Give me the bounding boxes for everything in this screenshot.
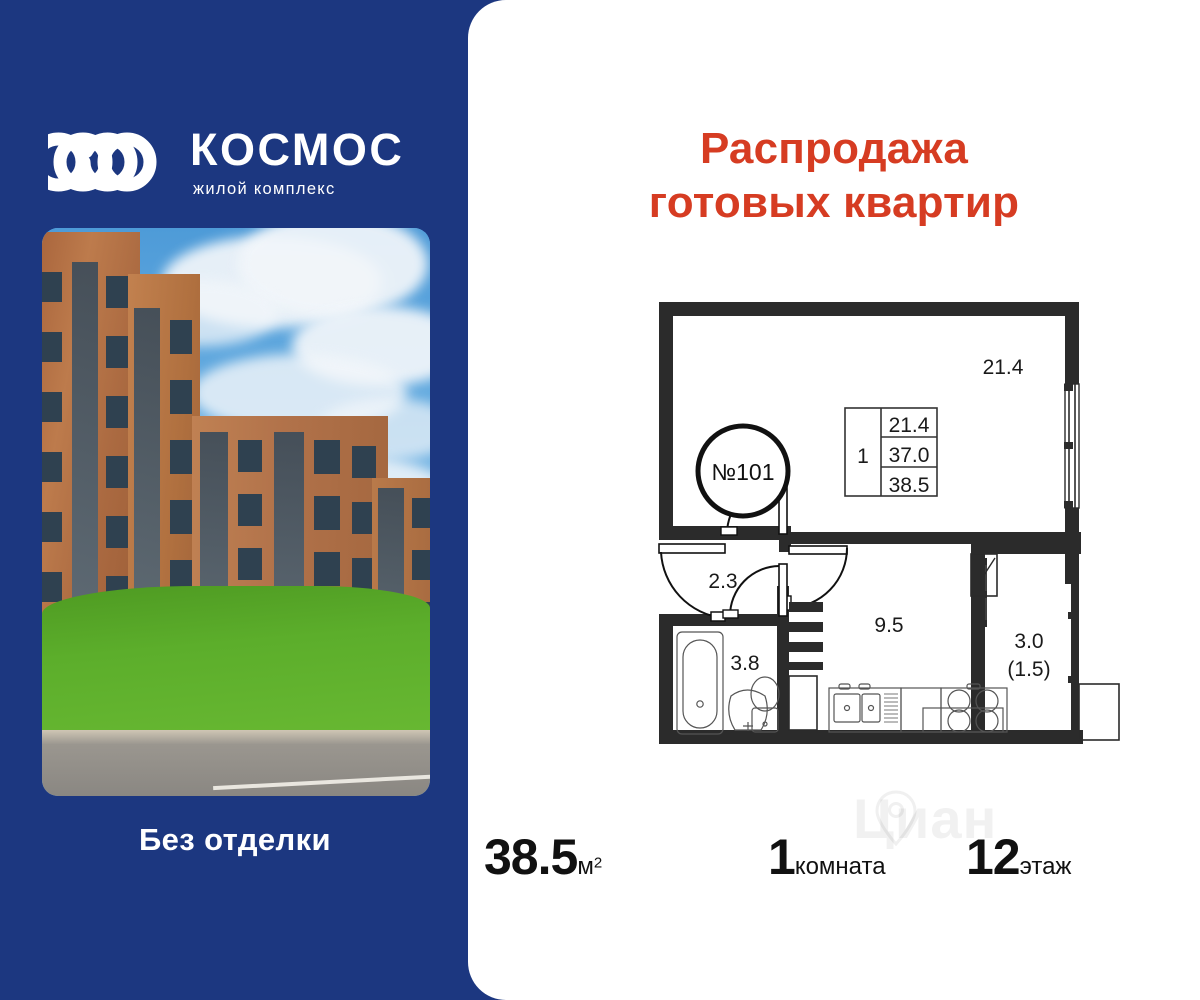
room-label-balcony-coef: (1.5) [1007, 658, 1050, 681]
area-table-without-balcony: 37.0 [889, 444, 930, 467]
window [1064, 384, 1079, 508]
area-table-total: 38.5 [889, 474, 930, 497]
area-table-living: 21.4 [889, 414, 930, 437]
countertop [901, 688, 941, 732]
residential-complex-photo [42, 228, 430, 796]
brand-name: КОСМОС [190, 126, 490, 174]
summary-area-value: 38.5 [484, 829, 577, 885]
room-label-balcony: 3.0 [1014, 630, 1043, 653]
kitchen-sink-icon [829, 684, 901, 732]
interior-door [783, 546, 847, 610]
summary-area: 38.5м2 [484, 828, 602, 886]
summary-rooms-unit: комната [795, 853, 886, 880]
summary-floor: 12этаж [966, 828, 1071, 886]
area-table: 1 21.4 37.0 38.5 [845, 408, 937, 497]
room-label-kitchen: 9.5 [874, 614, 903, 637]
wardrobe-icon [789, 602, 823, 730]
promo-headline-line2: готовых квартир [468, 176, 1200, 230]
bathtub-icon [677, 632, 723, 734]
room-label-hallway: 2.3 [708, 570, 737, 593]
summary-area-unit: м [577, 853, 594, 880]
infinity-icon [48, 126, 178, 198]
toilet-icon [751, 677, 779, 732]
road-marking [213, 774, 430, 790]
summary-floor-unit: этаж [1020, 853, 1072, 880]
apartment-number-text: №101 [711, 459, 774, 485]
finish-type-caption: Без отделки [0, 822, 470, 858]
area-table-rooms: 1 [857, 445, 869, 468]
listing-summary: 38.5м2 1комната 12этаж [468, 812, 1200, 892]
floor-plan[interactable]: .wall { fill:#2b2b2b; } .thin { fill:non… [593, 296, 1123, 756]
room-label-living: 21.4 [983, 356, 1024, 379]
stove-icon [923, 684, 1007, 732]
apartment-number-badge: №101 [698, 426, 788, 516]
summary-floor-value: 12 [966, 829, 1020, 885]
room-label-bathroom: 3.8 [730, 652, 759, 675]
brand-tagline: жилой комплекс [190, 179, 490, 199]
promo-headline-line1: Распродажа [468, 122, 1200, 176]
summary-area-unit-sup: 2 [594, 855, 602, 872]
promo-headline: Распродажа готовых квартир [468, 122, 1200, 230]
lawn [42, 586, 430, 736]
brand-logo[interactable]: КОСМОС жилой комплекс [48, 118, 448, 210]
brand-sidebar: КОСМОС жилой комплекс [0, 0, 470, 1000]
summary-rooms-value: 1 [768, 829, 795, 885]
road [42, 730, 430, 796]
summary-rooms: 1комната [768, 828, 886, 886]
listing-card: Распродажа готовых квартир .wall { fill:… [468, 0, 1200, 1000]
